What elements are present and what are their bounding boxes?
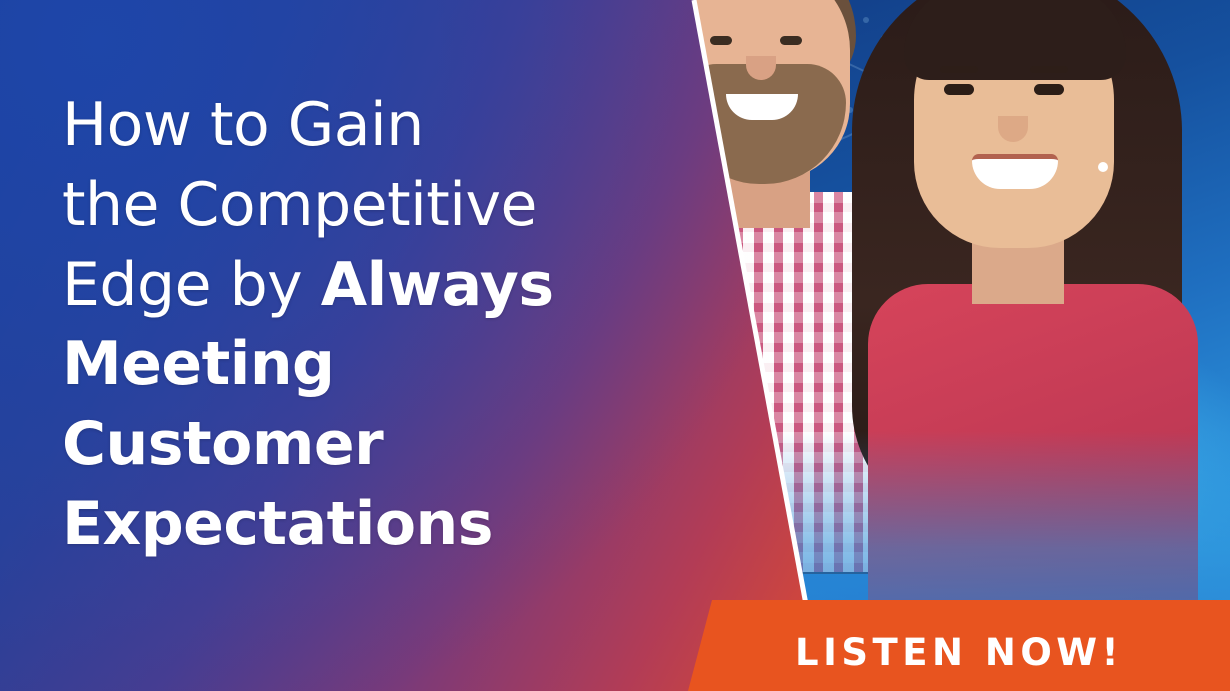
headline-line-2: the Competitive [62, 166, 702, 246]
headline-line-6: Expectations [62, 485, 702, 565]
man-eye-left [710, 36, 732, 45]
woman-brow-right [1030, 66, 1068, 73]
woman-eye-right [1034, 84, 1064, 95]
page-title: How to Gain the Competitive Edge by Alwa… [62, 86, 702, 565]
listen-now-button[interactable]: LISTEN NOW! [688, 600, 1230, 691]
woman-portrait [826, 0, 1230, 691]
woman-brow-left [940, 66, 978, 73]
woman-smile [972, 154, 1058, 189]
listen-now-label: LISTEN NOW! [795, 631, 1123, 674]
headline-line-3-bold: Always [321, 250, 554, 320]
woman-eye-left [944, 84, 974, 95]
man-eye-right [780, 36, 802, 45]
woman-fringe [904, 0, 1126, 80]
headline-line-1: How to Gain [62, 86, 702, 166]
headline-line-5: Customer [62, 405, 702, 485]
headline-line-4: Meeting [62, 325, 702, 405]
podcast-promo-banner: How to Gain the Competitive Edge by Alwa… [0, 0, 1230, 691]
woman-earring [1098, 162, 1108, 172]
headline-line-3: Edge by Always [62, 246, 702, 326]
headline-line-3-normal: Edge by [62, 250, 321, 320]
